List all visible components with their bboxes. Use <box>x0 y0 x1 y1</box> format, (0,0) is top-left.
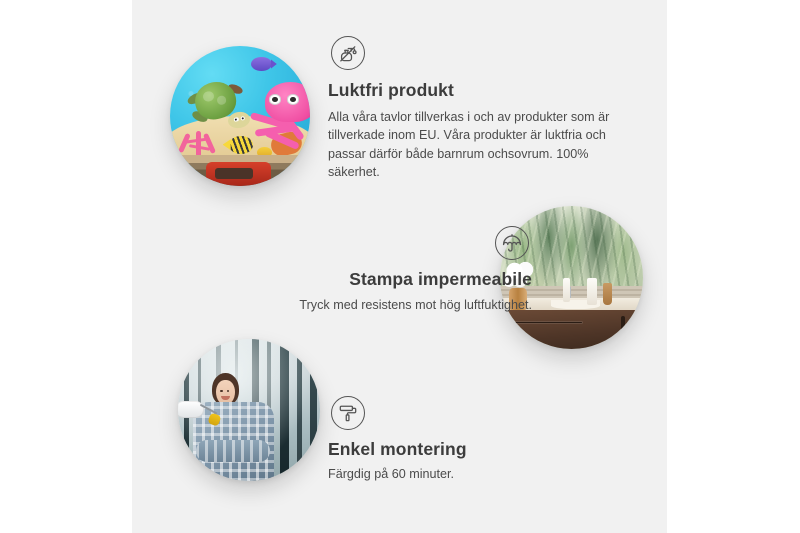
paint-roller-icon <box>331 396 365 430</box>
feature-body: Alla våra tavlor tillverkas i och av pro… <box>328 108 628 182</box>
reed-diffuser <box>603 283 612 304</box>
pink-octopus <box>254 82 310 146</box>
feature-body: Tryck med resistens mot hög luftfuktighe… <box>202 296 532 314</box>
underwater-cartoon-photo <box>170 46 310 186</box>
turtle-eye <box>240 115 246 121</box>
feature-title: Luktfri produkt <box>328 80 628 101</box>
toiletry-bottle <box>587 278 597 305</box>
feature-easy-installation: Enkel montering Färgdig på 60 minuter. <box>328 396 628 483</box>
wooden-vanity-cabinet <box>503 310 643 349</box>
page-root: Luktfri produkt Alla våra tavlor tillver… <box>0 0 800 533</box>
octopus-eye <box>287 94 299 104</box>
octopus-head <box>265 82 310 122</box>
woman-painter-forest-photo <box>178 339 320 481</box>
feature-odourless-product: Luktfri produkt Alla våra tavlor tillver… <box>328 36 628 182</box>
striped-yellow-fish <box>229 136 253 154</box>
feature-body: Färgdig på 60 minuter. <box>328 465 628 483</box>
umbrella-icon <box>495 226 529 260</box>
turtle-eye <box>233 117 239 123</box>
octopus-eye <box>269 94 281 104</box>
woman-painter-artwork <box>178 339 320 481</box>
woman-figure <box>189 373 277 481</box>
sea-turtle <box>190 82 246 130</box>
content-panel: Luktfri produkt Alla våra tavlor tillver… <box>132 0 667 533</box>
red-sofa <box>206 162 270 186</box>
paint-roller-held <box>178 401 216 418</box>
feature-waterproof-print: Stampa impermeabile Tryck med resistens … <box>202 226 532 314</box>
feature-title: Enkel montering <box>328 439 628 460</box>
feature-title: Stampa impermeabile <box>202 269 532 290</box>
woman-crossed-arms <box>196 440 270 462</box>
no-odour-spray-bottle-icon <box>331 36 365 70</box>
toiletry-bottle <box>563 278 570 302</box>
underwater-cartoon-artwork <box>170 46 310 186</box>
